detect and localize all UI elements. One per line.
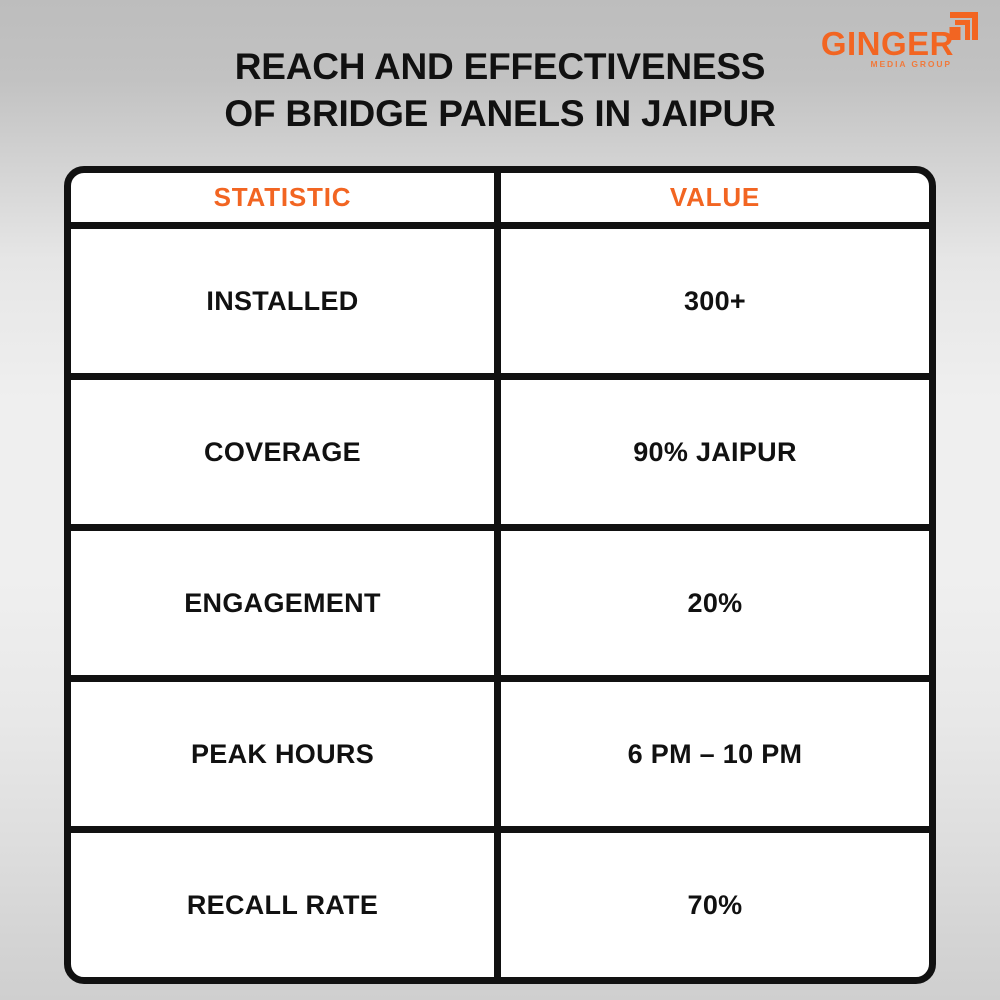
table-row: RECALL RATE 70% [71, 833, 929, 977]
cell-value: 90% JAIPUR [501, 380, 929, 524]
cell-value: 20% [501, 531, 929, 675]
table-row: INSTALLED 300+ [71, 229, 929, 380]
table-row: COVERAGE 90% JAIPUR [71, 380, 929, 531]
page-title-line-1: REACH AND EFFECTIVENESS [0, 44, 1000, 91]
column-header-value: VALUE [501, 173, 929, 222]
cell-statistic: INSTALLED [71, 229, 501, 373]
cell-statistic: COVERAGE [71, 380, 501, 524]
table-body: STATISTIC VALUE INSTALLED 300+ COVERAGE … [71, 173, 929, 977]
cell-statistic: PEAK HOURS [71, 682, 501, 826]
table-row: PEAK HOURS 6 PM – 10 PM [71, 682, 929, 833]
cell-statistic: RECALL RATE [71, 833, 501, 977]
cell-statistic: ENGAGEMENT [71, 531, 501, 675]
table-row: ENGAGEMENT 20% [71, 531, 929, 682]
page-title-line-2: OF BRIDGE PANELS IN JAIPUR [0, 91, 1000, 138]
cell-value: 6 PM – 10 PM [501, 682, 929, 826]
page-title: REACH AND EFFECTIVENESS OF BRIDGE PANELS… [0, 44, 1000, 137]
column-header-statistic: STATISTIC [71, 173, 501, 222]
cell-value: 70% [501, 833, 929, 977]
cell-value: 300+ [501, 229, 929, 373]
statistics-table: STATISTIC VALUE INSTALLED 300+ COVERAGE … [64, 166, 936, 984]
table-header-row: STATISTIC VALUE [71, 173, 929, 229]
